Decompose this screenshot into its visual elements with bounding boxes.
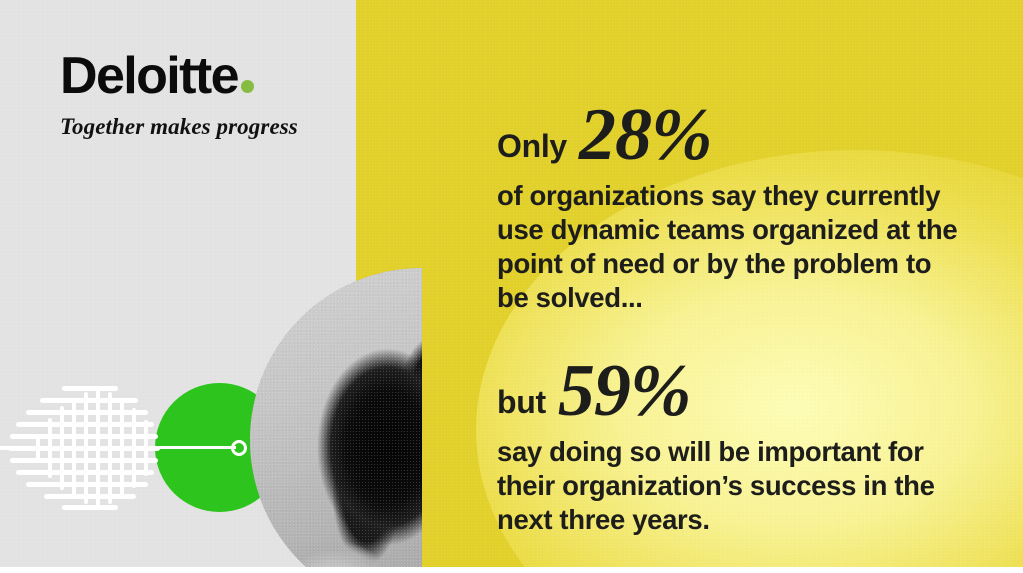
probe-ring-icon xyxy=(231,440,247,456)
stripe-bar xyxy=(44,494,136,499)
logo-tagline: Together makes progress xyxy=(60,114,350,140)
photo-grain xyxy=(250,268,422,567)
stat-prefix: but xyxy=(497,386,546,418)
bottom-strip xyxy=(0,567,1023,573)
logo-wordmark: Deloitte xyxy=(60,50,238,102)
stripe-bar xyxy=(10,458,158,463)
stripe-sphere-icon xyxy=(0,380,140,516)
stripe-bar xyxy=(16,470,154,475)
stripe-bar xyxy=(10,434,158,439)
stripe-bar xyxy=(40,398,138,403)
stripe-bar xyxy=(62,386,118,391)
stripe-bar xyxy=(16,422,154,427)
stat-block-28: Only 28% of organizations say they curre… xyxy=(497,96,967,315)
logo-lockup: Deloitte xyxy=(60,50,350,102)
infographic-canvas: Deloitte Together makes progress xyxy=(0,0,1023,573)
brand-dot-icon xyxy=(241,80,254,93)
stat-headline: Only 28% xyxy=(497,96,967,170)
photo-circle-mask xyxy=(250,268,422,567)
stat-prefix: Only xyxy=(497,130,567,162)
stripe-bar xyxy=(26,410,148,415)
deloitte-logo: Deloitte Together makes progress xyxy=(60,50,350,140)
stripe-bar xyxy=(26,482,148,487)
woman-laughing-photo xyxy=(250,268,422,567)
stat-figure: 59% xyxy=(558,354,691,428)
probe-line xyxy=(150,446,236,449)
stat-headline: but 59% xyxy=(497,352,967,426)
stat-body: of organizations say they currently use … xyxy=(497,179,967,315)
stripe-bar xyxy=(62,505,118,510)
stat-figure: 28% xyxy=(579,98,712,172)
stat-block-59: but 59% say doing so will be important f… xyxy=(497,352,967,537)
stripe-bar xyxy=(8,446,160,451)
stat-body: say doing so will be important for their… xyxy=(497,435,967,537)
